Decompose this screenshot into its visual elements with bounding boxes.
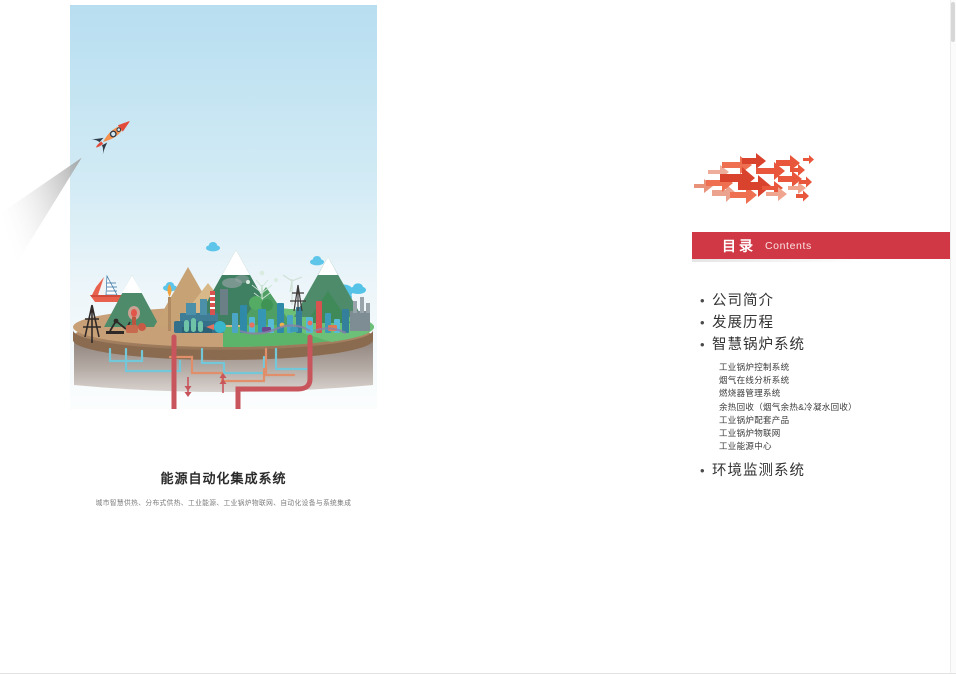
toc-item-company-intro[interactable]: • 公司简介 [700,290,954,312]
scrollbar-thumb[interactable] [951,2,955,42]
toc-item-label: 发展历程 [712,312,774,334]
illustration-svg [70,5,377,409]
contents-header-bar: 目录 Contents [692,232,954,259]
contents-title-en: Contents [765,240,812,252]
toc-item-smart-boiler[interactable]: • 智慧锅炉系统 [700,334,954,356]
toc-item-label: 环境监测系统 [712,460,805,482]
bullet-icon: • [700,460,712,482]
bullet-icon: • [700,312,712,334]
toc-sublist-smart-boiler: 工业锅炉控制系统 烟气在线分析系统 燃烧器管理系统 余热回收（烟气余热&冷凝水回… [719,361,954,453]
toc-sub-item[interactable]: 燃烧器管理系统 [719,387,954,400]
poster-container [70,5,377,409]
poster-title: 能源自动化集成系统 [70,470,377,488]
bullet-icon: • [700,290,712,312]
toc-sub-item[interactable]: 余热回收（烟气余热&冷凝水回收） [719,401,954,414]
slide-page: 能源自动化集成系统 城市智慧供热、分布式供热、工业能源、工业锅炉物联网、自动化设… [0,0,956,674]
bullet-icon: • [700,334,712,356]
toc-item-label: 智慧锅炉系统 [712,334,805,356]
page-scrollbar[interactable] [950,0,956,674]
toc-list: • 公司简介 • 发展历程 • 智慧锅炉系统 工业锅炉控制系统 烟气在线分析系统… [700,290,954,482]
toc-sub-item[interactable]: 工业锅炉配套产品 [719,414,954,427]
poster-caption: 能源自动化集成系统 城市智慧供热、分布式供热、工业能源、工业锅炉物联网、自动化设… [70,470,377,509]
toc-sub-item[interactable]: 工业锅炉控制系统 [719,361,954,374]
contents-panel: 目录 Contents • 公司简介 • 发展历程 • 智慧锅炉系统 工业锅炉控… [692,0,954,674]
arrows-cluster-logo-icon [692,150,822,206]
contents-title-cn: 目录 [722,236,756,256]
toc-sub-item[interactable]: 工业能源中心 [719,440,954,453]
poster-subtitle: 城市智慧供热、分布式供热、工业能源、工业锅炉物联网、自动化设备与系统集成 [76,499,371,509]
toc-sub-item[interactable]: 工业锅炉物联网 [719,427,954,440]
toc-sub-item[interactable]: 烟气在线分析系统 [719,374,954,387]
energy-illustration [70,5,377,409]
toc-item-environment-monitoring[interactable]: • 环境监测系统 [700,460,954,482]
flare-tower [168,284,172,331]
toc-item-label: 公司简介 [712,290,774,312]
toc-item-history[interactable]: • 发展历程 [700,312,954,334]
